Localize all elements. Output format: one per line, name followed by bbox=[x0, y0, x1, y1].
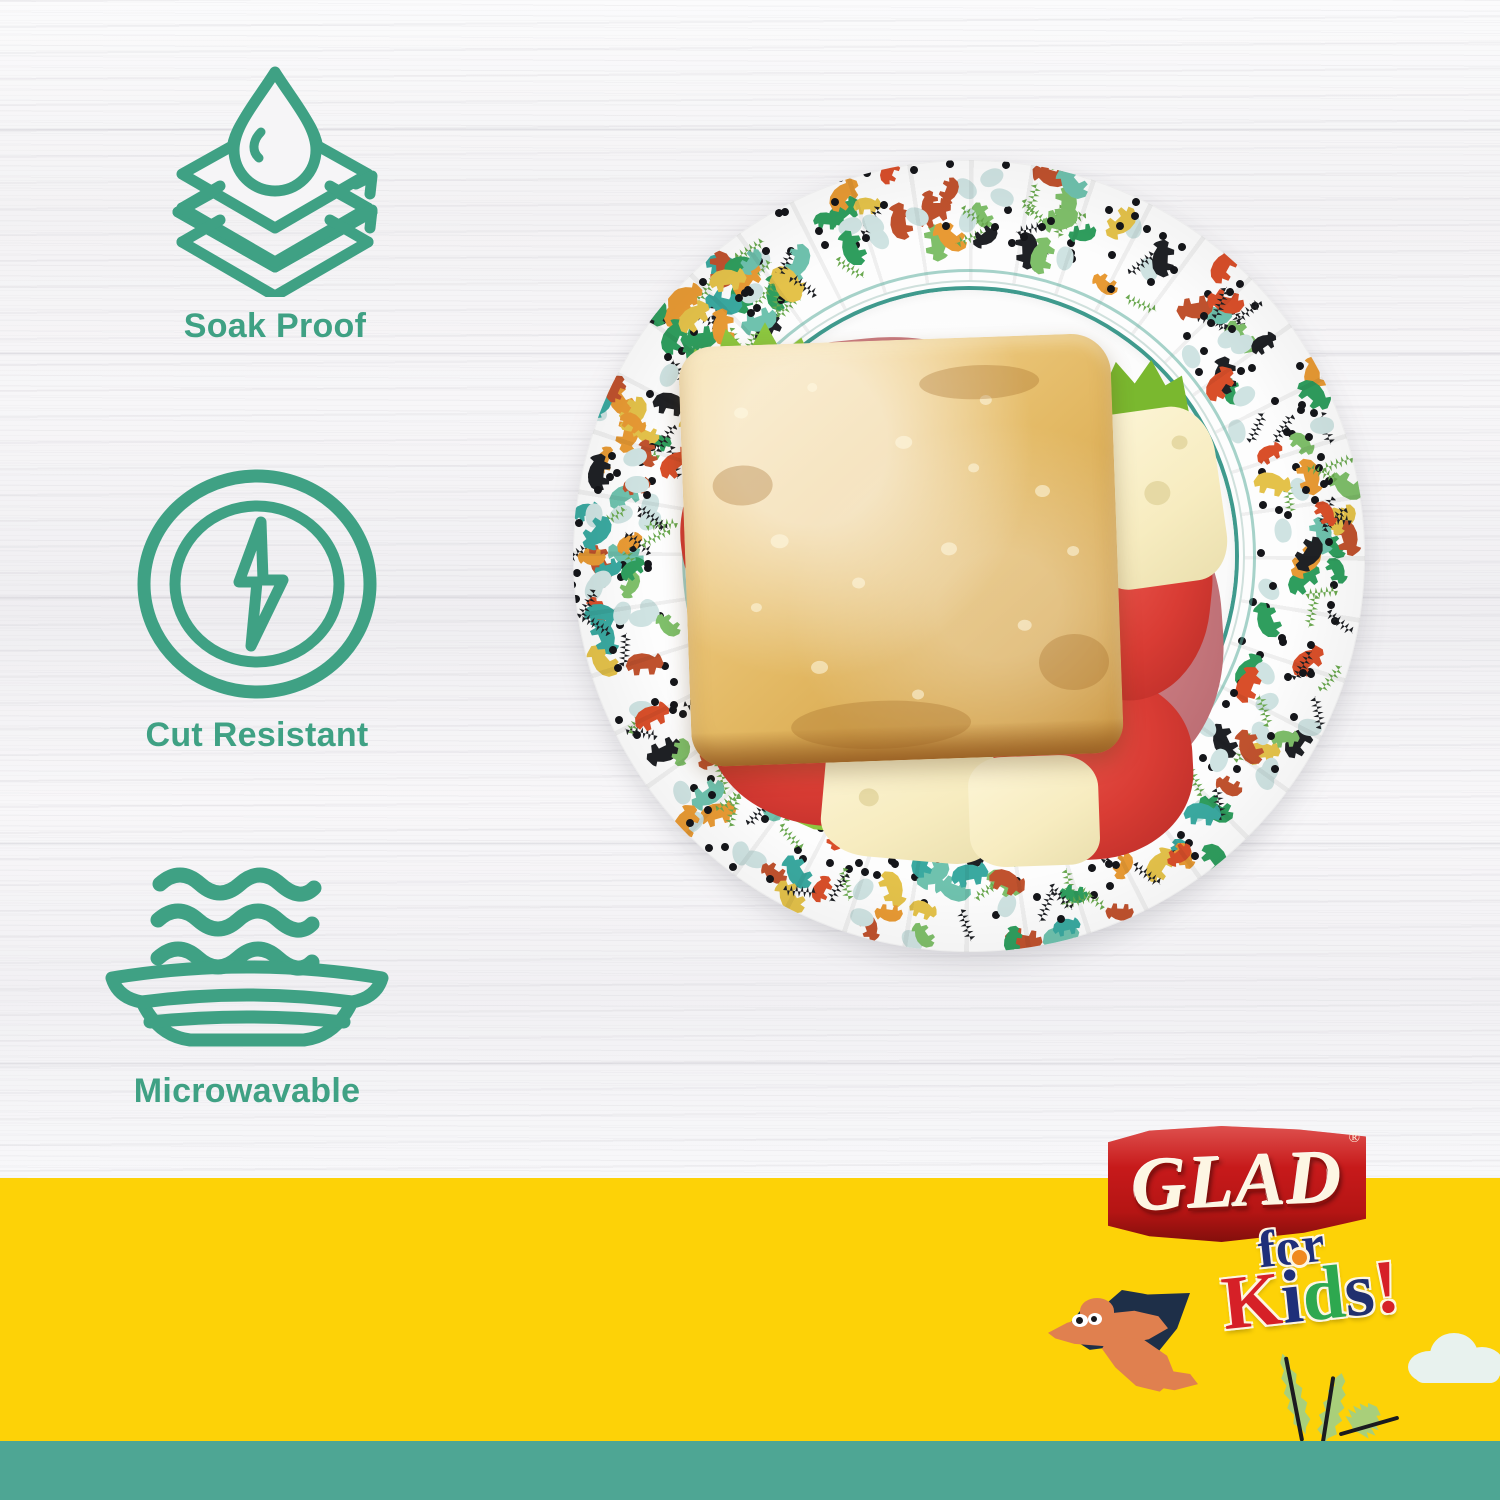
feature-soak-proof: Soak Proof bbox=[110, 62, 440, 346]
product-photo bbox=[573, 122, 1373, 1132]
tagline-kids-char: K bbox=[1218, 1256, 1286, 1346]
sandwich bbox=[573, 160, 1365, 952]
pterodactyl-illustration bbox=[1046, 1288, 1236, 1400]
feature-label: Cut Resistant bbox=[92, 716, 422, 755]
steaming-bowl-icon bbox=[102, 862, 392, 1062]
registered-trademark-icon: ® bbox=[1349, 1130, 1360, 1147]
feature-microwavable: Microwavable bbox=[82, 862, 412, 1111]
tagline-kids: Kids! bbox=[1218, 1243, 1404, 1348]
footer-bar bbox=[0, 1441, 1500, 1500]
for-kids-tagline: for Kids! bbox=[1222, 1218, 1462, 1326]
feature-cut-resistant: Cut Resistant bbox=[92, 466, 422, 755]
fern-grass-illustration bbox=[1272, 1348, 1422, 1441]
lightning-bolt-in-circles-icon bbox=[133, 466, 381, 706]
cheese-slice bbox=[967, 754, 1101, 868]
feature-label: Soak Proof bbox=[110, 307, 440, 346]
feature-label: Microwavable bbox=[82, 1072, 412, 1111]
water-drop-on-stacked-layers-icon bbox=[160, 62, 390, 297]
glad-wordmark: GLAD bbox=[1106, 1132, 1368, 1230]
ad-canvas: Soak Proof Cut Resistant Microwavable bbox=[0, 0, 1500, 1500]
cloud-illustration bbox=[1408, 1333, 1500, 1383]
toasted-bread-slice bbox=[678, 333, 1124, 768]
